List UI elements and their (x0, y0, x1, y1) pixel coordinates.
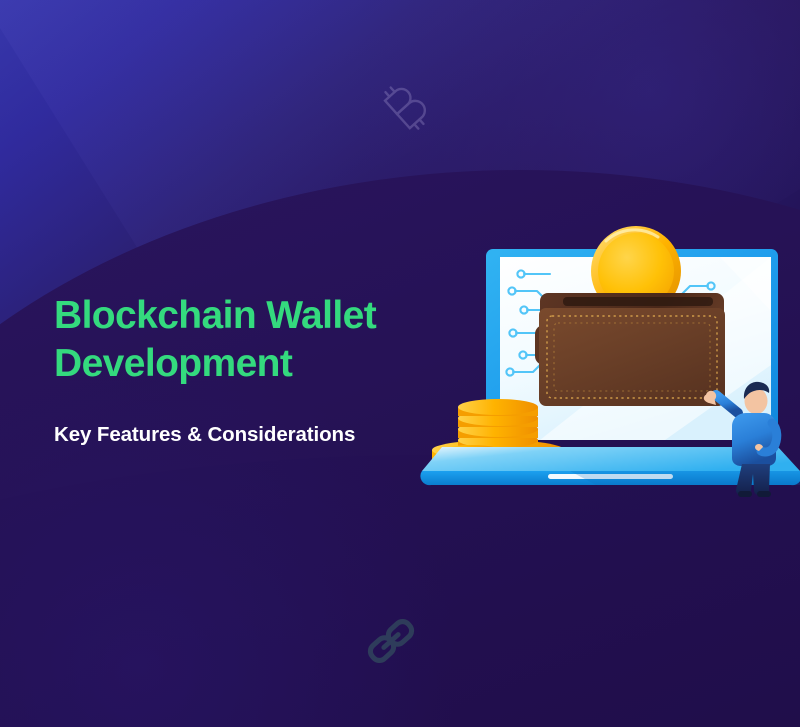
subtitle: Key Features & Considerations (54, 423, 474, 447)
chain-link-icon (362, 612, 420, 670)
wallet (535, 293, 725, 406)
headline-line-2: Development (54, 340, 474, 388)
headline-line-1: Blockchain Wallet (54, 294, 376, 337)
page-title: Blockchain Wallet Development (54, 292, 474, 387)
banner-hero: Blockchain Wallet Development Key Featur… (0, 0, 800, 727)
headline-block: Blockchain Wallet Development Key Featur… (54, 292, 474, 447)
blockchain-wallet-laptop-illustration (420, 215, 800, 500)
bitcoin-icon (376, 76, 436, 136)
